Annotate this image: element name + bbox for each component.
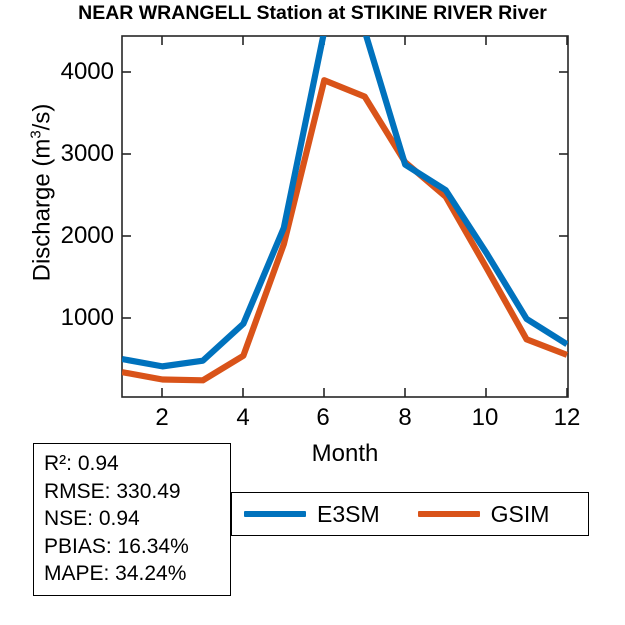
legend-swatch-e3sm <box>244 511 306 517</box>
series-line-e3sm <box>122 31 567 366</box>
stat-r2: R²: 0.94 <box>44 450 222 478</box>
legend: E3SM GSIM <box>231 492 589 536</box>
stat-pbias: PBIAS: 16.34% <box>44 533 222 561</box>
legend-entry-gsim[interactable]: GSIM <box>406 501 550 528</box>
legend-swatch-gsim <box>418 511 480 517</box>
stat-nse: NSE: 0.94 <box>44 505 222 533</box>
stat-mape: MAPE: 34.24% <box>44 560 222 588</box>
legend-label-e3sm: E3SM <box>317 501 380 528</box>
legend-label-gsim: GSIM <box>491 501 550 528</box>
statistics-box: R²: 0.94 RMSE: 330.49 NSE: 0.94 PBIAS: 1… <box>33 443 231 596</box>
stat-rmse: RMSE: 330.49 <box>44 478 222 506</box>
series-line-gsim <box>122 80 567 380</box>
legend-entry-e3sm[interactable]: E3SM <box>232 501 380 528</box>
figure-canvas: NEAR WRANGELL Station at STIKINE RIVER R… <box>0 0 625 625</box>
